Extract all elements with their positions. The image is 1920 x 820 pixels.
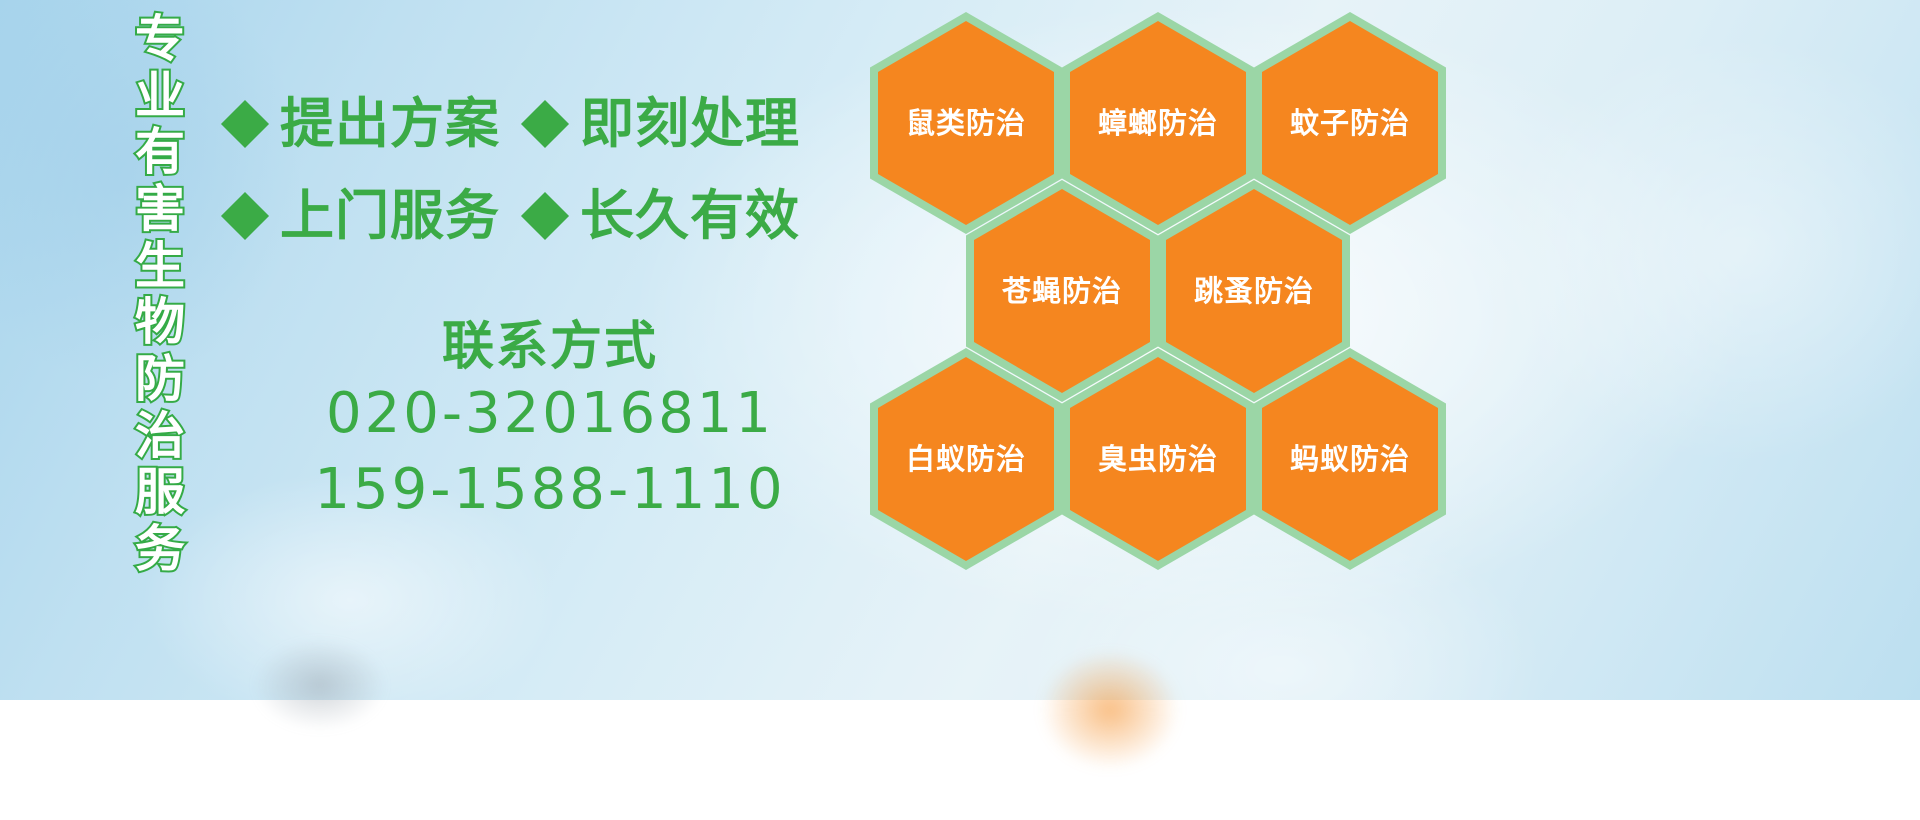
contact-phone-landline[interactable]: 020-32016811 [300, 376, 800, 452]
hex-inner: 鼠类防治 [878, 21, 1054, 225]
service-label: 跳蚤防治 [1194, 277, 1314, 306]
vertical-headline-char: 生 [135, 241, 185, 291]
feature-item-propose-plan: 提出方案 [228, 97, 500, 151]
feature-item-immediate-handling: 即刻处理 [528, 97, 800, 151]
hex-inner: 蟑螂防治 [1070, 21, 1246, 225]
feature-label: 长久有效 [580, 189, 800, 243]
vertical-headline-char: 防 [135, 354, 185, 404]
service-hexagon-grid: 鼠类防治 蟑螂防治 蚊子防治 苍蝇防治 跳蚤防治 白蚁防治 [862, 6, 1442, 566]
diamond-icon [521, 192, 569, 240]
hex-inner: 苍蝇防治 [974, 189, 1150, 393]
feature-row: 上门服务 长久有效 [228, 170, 868, 262]
feature-item-long-lasting: 长久有效 [528, 189, 800, 243]
vertical-headline-char: 务 [135, 524, 185, 574]
vertical-headline-char: 服 [135, 467, 185, 517]
vertical-headline-char: 业 [135, 71, 185, 121]
feature-label: 上门服务 [280, 189, 500, 243]
feature-row: 提出方案 即刻处理 [228, 78, 868, 170]
feature-item-onsite-service: 上门服务 [228, 189, 500, 243]
service-label: 臭虫防治 [1098, 445, 1218, 474]
background-ghost-grey [255, 640, 385, 730]
service-label: 鼠类防治 [906, 109, 1026, 138]
hex-inner: 跳蚤防治 [1166, 189, 1342, 393]
hex-inner: 蚊子防治 [1262, 21, 1438, 225]
service-label: 白蚁防治 [906, 445, 1026, 474]
pest-control-banner: 专 业 有 害 生 物 防 治 服 务 提出方案 即刻处理 上门服务 [0, 0, 1920, 700]
feature-label: 提出方案 [280, 97, 500, 151]
service-label: 蚊子防治 [1290, 109, 1410, 138]
background-blob-top-right [1500, 40, 1920, 460]
hex-inner: 臭虫防治 [1070, 357, 1246, 561]
vertical-headline-char: 物 [135, 297, 185, 347]
diamond-icon [221, 192, 269, 240]
service-label: 蚂蚁防治 [1290, 445, 1410, 474]
contact-label: 联系方式 [300, 318, 800, 376]
contact-phone-mobile[interactable]: 159-1588-1110 [300, 452, 800, 528]
vertical-headline-char: 害 [135, 184, 185, 234]
contact-block: 联系方式 020-32016811 159-1588-1110 [300, 318, 800, 527]
vertical-headline-char: 专 [135, 14, 185, 64]
diamond-icon [221, 100, 269, 148]
service-label: 苍蝇防治 [1002, 277, 1122, 306]
feature-label: 即刻处理 [580, 97, 800, 151]
vertical-headline: 专 业 有 害 生 物 防 治 服 务 [108, 14, 212, 574]
diamond-icon [521, 100, 569, 148]
service-label: 蟑螂防治 [1098, 109, 1218, 138]
vertical-headline-char: 治 [135, 411, 185, 461]
background-ghost-orange [1040, 650, 1180, 770]
vertical-headline-char: 有 [135, 127, 185, 177]
hex-inner: 白蚁防治 [878, 357, 1054, 561]
feature-list: 提出方案 即刻处理 上门服务 长久有效 [228, 78, 868, 262]
hex-inner: 蚂蚁防治 [1262, 357, 1438, 561]
